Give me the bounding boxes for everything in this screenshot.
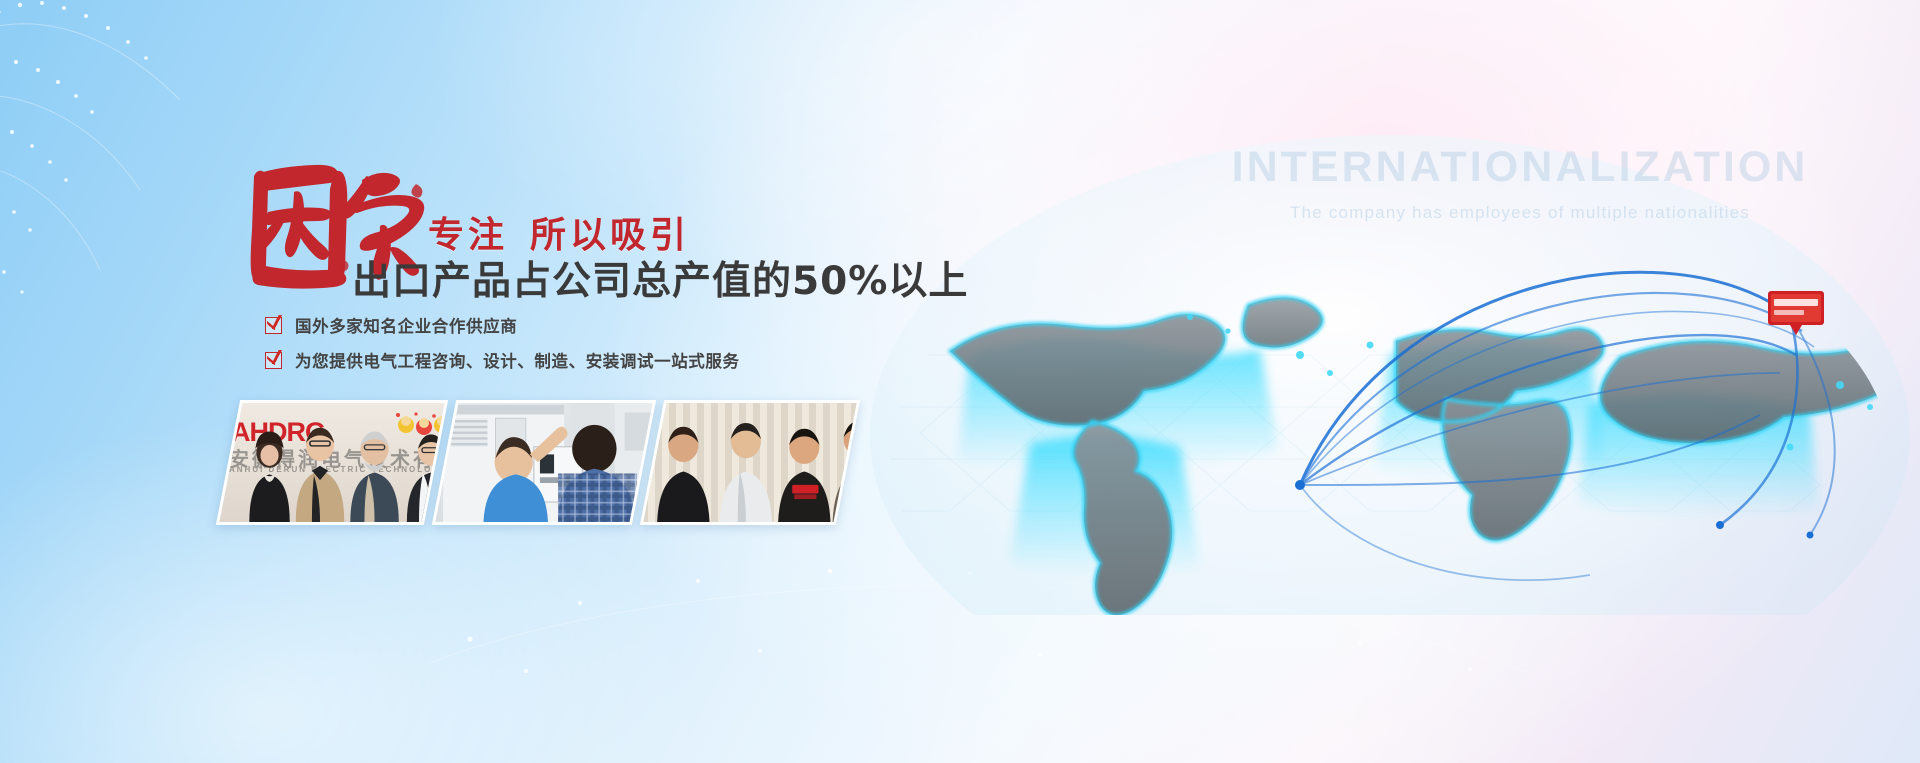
bullet-list: 国外多家知名企业合作供应商 为您提供电气工程咨询、设计、制造、安装调试一站式服务: [265, 313, 740, 383]
check-box-icon: [265, 317, 282, 334]
dotted-curve-decoration-left: [0, 0, 230, 330]
check-box-icon: [265, 352, 282, 369]
photo-team-portrait[interactable]: [640, 400, 860, 525]
photo-strip: AHDRG 安徽得润电气技术有限 ANHUI DERUN ELECTRIC TE…: [216, 400, 860, 525]
watermark-large-text: INTERNATIONALIZATION: [1150, 143, 1890, 192]
photo-group-delegation[interactable]: AHDRG 安徽得润电气技术有限 ANHUI DERUN ELECTRIC TE…: [216, 400, 448, 525]
headline-subline: 出口产品占公司总产值的50%以上: [352, 250, 968, 306]
bullet-label: 为您提供电气工程咨询、设计、制造、安装调试一站式服务: [295, 348, 740, 372]
world-map-globe: INTERNATIONALIZATION The company has emp…: [830, 55, 1920, 615]
list-item: 为您提供电气工程咨询、设计、制造、安装调试一站式服务: [265, 348, 740, 372]
watermark-small-text: The company has employees of multiple na…: [1060, 203, 1920, 223]
team-silhouettes: [641, 403, 860, 522]
promo-banner: INTERNATIONALIZATION The company has emp…: [0, 0, 1920, 763]
globe-location-marker: [1768, 291, 1824, 335]
bullet-label: 国外多家知名企业合作供应商: [295, 313, 517, 337]
dotted-curve-decoration-bottom: [430, 543, 1530, 683]
cabinet-and-engineers: [433, 403, 656, 522]
globe-svg: [830, 55, 1920, 615]
people-silhouettes: [217, 403, 448, 522]
list-item: 国外多家知名企业合作供应商: [265, 313, 740, 337]
photo-engineers-cabinet[interactable]: [432, 400, 656, 525]
